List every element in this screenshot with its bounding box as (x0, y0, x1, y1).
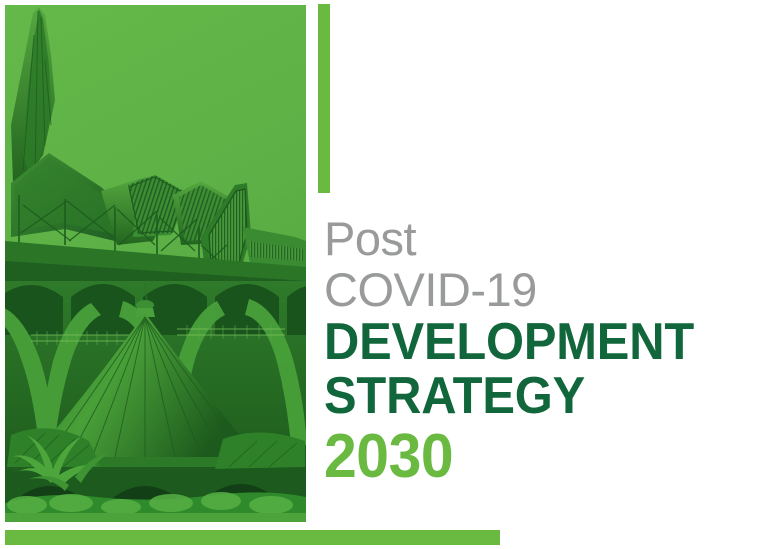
title-line-strategy: STRATEGY (324, 369, 719, 423)
title-line-post: Post (324, 214, 744, 264)
title-line-year: 2030 (324, 423, 723, 491)
vertical-accent-bar (318, 4, 330, 193)
title-line-development: DEVELOPMENT (324, 315, 719, 369)
bottom-accent-bar (5, 530, 500, 545)
cover-title-block: Post COVID-19 DEVELOPMENT STRATEGY 2030 (324, 214, 744, 491)
title-line-covid19: COVID-19 (324, 264, 744, 315)
cover-page: Post COVID-19 DEVELOPMENT STRATEGY 2030 (0, 0, 761, 549)
green-duotone-architecture-photo (5, 5, 306, 522)
